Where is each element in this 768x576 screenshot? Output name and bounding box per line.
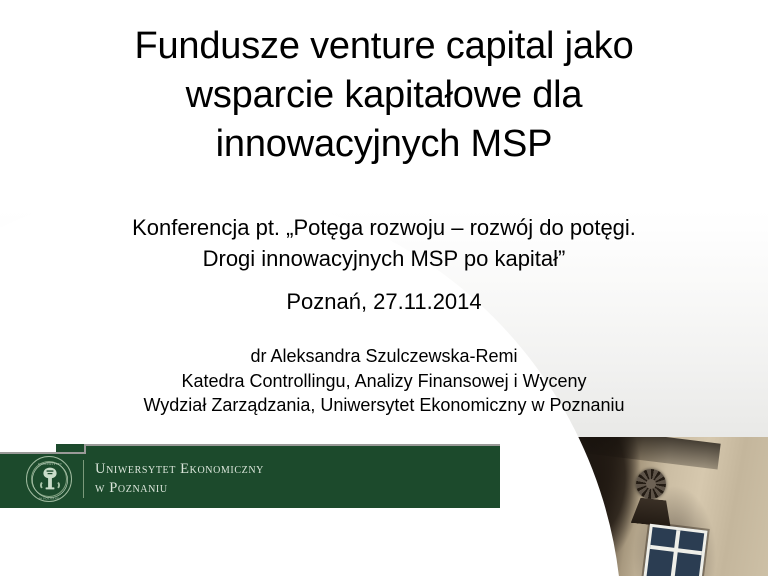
author-faculty: Wydział Zarządzania, Uniwersytet Ekonomi… bbox=[0, 393, 768, 418]
university-seal-icon: UNIWERSYTET W POZNANIU bbox=[26, 456, 72, 502]
author-name: dr Aleksandra Szulczewska-Remi bbox=[0, 344, 768, 369]
slide-title-line-3: innowacyjnych MSP bbox=[0, 120, 768, 169]
author-department: Katedra Controllingu, Analizy Finansowej… bbox=[0, 369, 768, 394]
conference-name: Konferencja pt. „Potęga rozwoju – rozwój… bbox=[0, 212, 768, 274]
photo-window bbox=[642, 524, 707, 576]
conference-line-1: Konferencja pt. „Potęga rozwoju – rozwój… bbox=[0, 212, 768, 243]
slide-title-line-2: wsparcie kapitałowe dla bbox=[0, 71, 768, 120]
svg-text:UNIWERSYTET: UNIWERSYTET bbox=[38, 462, 62, 466]
conference-line-2: Drogi innowacyjnych MSP po kapitał” bbox=[0, 243, 768, 274]
presentation-slide: UNIWERSYTET W POZNANIU Uniwersytet Ekono… bbox=[0, 0, 768, 576]
slide-title-line-1: Fundusze venture capital jako bbox=[0, 22, 768, 71]
place-and-date: Poznań, 27.11.2014 bbox=[0, 288, 768, 316]
svg-text:W POZNANIU: W POZNANIU bbox=[39, 496, 61, 500]
author-affiliation: dr Aleksandra Szulczewska-Remi Katedra C… bbox=[0, 344, 768, 418]
logo-divider bbox=[83, 460, 84, 498]
logo-wordmark: Uniwersytet Ekonomiczny w Poznaniu bbox=[95, 460, 264, 498]
logo-line-2: w Poznaniu bbox=[95, 479, 264, 498]
logo-line-1: Uniwersytet Ekonomiczny bbox=[95, 460, 264, 479]
university-logo: UNIWERSYTET W POZNANIU Uniwersytet Ekono… bbox=[26, 456, 264, 502]
slide-title: Fundusze venture capital jako wsparcie k… bbox=[0, 22, 768, 169]
photo-lamp-hub bbox=[646, 479, 656, 489]
